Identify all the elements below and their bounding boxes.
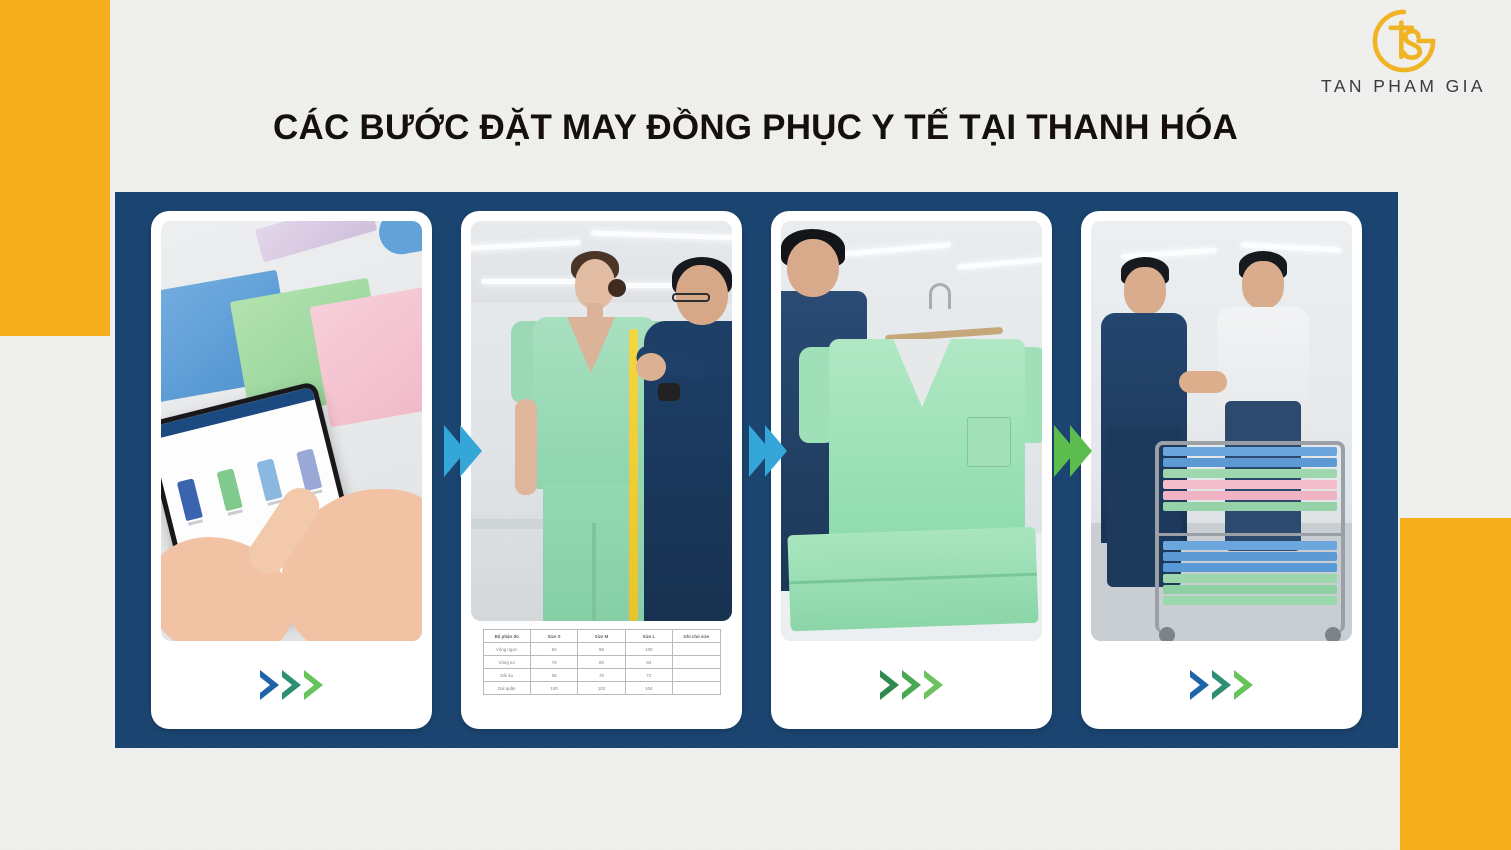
delivery-handshake-photo [1091, 221, 1352, 641]
decorative-bar-left [0, 0, 110, 336]
quality-inspection-photo [781, 221, 1042, 641]
spec-table-cell: Ghi chú size [673, 630, 720, 643]
step-card-2[interactable]: Bộ phận đoSize SSize MSize LGhi chú size… [461, 211, 742, 729]
tablet-uniform-catalog-photo [161, 221, 422, 641]
steps-panel: Bộ phận đoSize SSize MSize LGhi chú size… [115, 192, 1398, 748]
spec-table-cell: Dài áo [483, 669, 530, 682]
decorative-bar-right [1400, 518, 1511, 850]
step-card-1[interactable] [151, 211, 432, 729]
spec-table-cell: 96 [578, 643, 625, 656]
connector-2 [755, 425, 787, 477]
brand-name: TAN PHAM GIA [1321, 76, 1486, 97]
spec-table-cell [673, 643, 720, 656]
chevron-icon [1212, 670, 1231, 700]
chevron-icon [282, 670, 301, 700]
step-card-3[interactable] [771, 211, 1052, 729]
spec-table-cell: 92 [530, 643, 577, 656]
step-1-chevrons [260, 641, 323, 729]
spec-table-header-row: Bộ phận đoSize SSize MSize LGhi chú size [483, 630, 720, 643]
spec-table-row: Vòng eo768084 [483, 656, 720, 669]
spec-table-cell: Size S [530, 630, 577, 643]
chevron-icon [902, 670, 921, 700]
spec-table-cell: 70 [578, 669, 625, 682]
spec-table-cell: Bộ phận đo [483, 630, 530, 643]
spec-table-cell: Dài quần [483, 682, 530, 695]
spec-table-cell: 104 [625, 682, 672, 695]
chevron-icon [924, 670, 943, 700]
spec-table-cell: 72 [625, 669, 672, 682]
step-3-chevrons [880, 641, 943, 729]
spec-table-cell: 68 [530, 669, 577, 682]
spec-table-body: Bộ phận đoSize SSize MSize LGhi chú size… [483, 630, 720, 695]
chevron-icon [260, 670, 279, 700]
spec-table-cell: Size L [625, 630, 672, 643]
measuring-mannequin-photo [471, 221, 732, 621]
chevron-icon [1190, 670, 1209, 700]
spec-table-row: Dài quần100102104 [483, 682, 720, 695]
chevron-icon [304, 670, 323, 700]
tan-pham-gia-monogram-icon [1371, 8, 1437, 74]
spec-table-cell: Vòng ngực [483, 643, 530, 656]
measurement-spec-table: Bộ phận đoSize SSize MSize LGhi chú size… [483, 629, 721, 695]
spec-table-cell: Size M [578, 630, 625, 643]
step-card-4[interactable] [1081, 211, 1362, 729]
chevron-icon [1234, 670, 1253, 700]
step-4-chevrons [1190, 641, 1253, 729]
spec-table-cell: 100 [530, 682, 577, 695]
spec-table-cell [673, 669, 720, 682]
spec-table-cell: 80 [578, 656, 625, 669]
arrow-chevron-icon [1070, 425, 1092, 477]
spec-table-cell: 102 [578, 682, 625, 695]
spec-table-cell: 100 [625, 643, 672, 656]
chevron-icon [880, 670, 899, 700]
arrow-chevron-icon [460, 425, 482, 477]
spec-table-row: Vòng ngực9296100 [483, 643, 720, 656]
brand-logo: TAN PHAM GIA [1311, 8, 1496, 110]
spec-table-cell [673, 682, 720, 695]
steps-container: Bộ phận đoSize SSize MSize LGhi chú size… [151, 209, 1362, 731]
spec-table-cell: 84 [625, 656, 672, 669]
spec-table-cell [673, 656, 720, 669]
spec-table-cell: 76 [530, 656, 577, 669]
spec-table-cell: Vòng eo [483, 656, 530, 669]
uniform-cart [1155, 441, 1345, 633]
spec-table-row: Dài áo687072 [483, 669, 720, 682]
connector-1 [450, 425, 482, 477]
arrow-chevron-icon [765, 425, 787, 477]
connector-3 [1060, 425, 1092, 477]
page-title: CÁC BƯỚC ĐẶT MAY ĐỒNG PHỤC Y TẾ TẠI THAN… [0, 108, 1511, 148]
